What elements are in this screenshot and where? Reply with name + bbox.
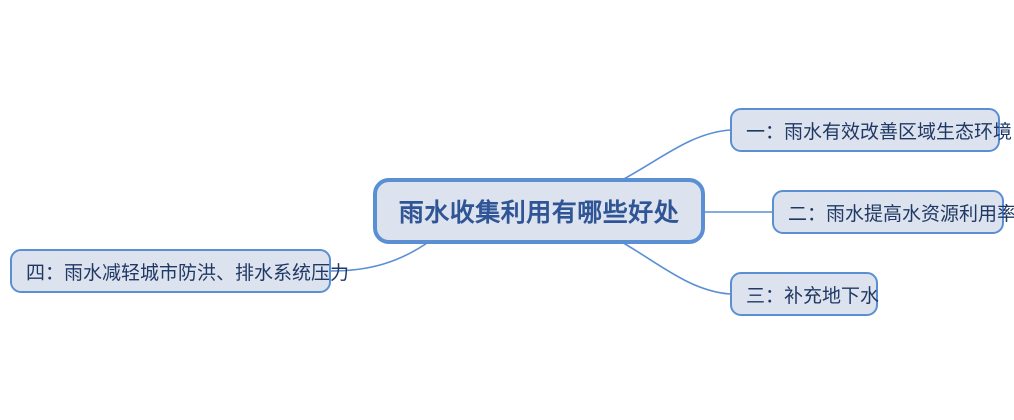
mindmap-branch-node-3[interactable]: 三：补充地下水 xyxy=(730,272,878,316)
mindmap-root-label: 雨水收集利用有哪些好处 xyxy=(377,193,701,229)
mindmap-branch-label-2: 二：雨水提高水资源利用率 xyxy=(788,199,988,226)
mindmap-root-node[interactable]: 雨水收集利用有哪些好处 xyxy=(373,178,705,244)
mindmap-branch-node-1[interactable]: 一：雨水有效改善区域生态环境 xyxy=(730,108,1000,152)
connector-root-to-branch-3 xyxy=(620,241,730,294)
mindmap-branch-label-4: 四：雨水减轻城市防洪、排水系统压力 xyxy=(26,258,315,285)
mindmap-canvas: 雨水收集利用有哪些好处 一：雨水有效改善区域生态环境 二：雨水提高水资源利用率 … xyxy=(0,0,1014,420)
mindmap-branch-label-3: 三：补充地下水 xyxy=(746,281,862,308)
mindmap-branch-node-2[interactable]: 二：雨水提高水资源利用率 xyxy=(772,190,1004,234)
connector-root-to-branch-1 xyxy=(620,130,730,181)
mindmap-branch-node-4[interactable]: 四：雨水减轻城市防洪、排水系统压力 xyxy=(10,249,331,293)
mindmap-branch-label-1: 一：雨水有效改善区域生态环境 xyxy=(746,117,984,144)
